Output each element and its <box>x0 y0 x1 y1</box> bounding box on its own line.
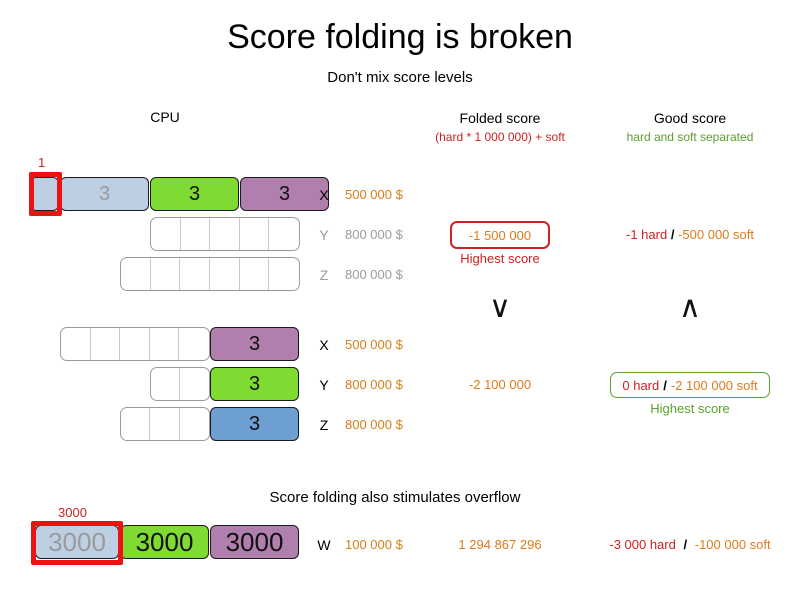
bar-cell[interactable] <box>240 218 270 250</box>
folded-score-group3: 1 294 867 296 <box>400 537 600 552</box>
good-score-soft-group3: -100 000 soft <box>695 537 771 552</box>
bar-segment-purple[interactable]: 3 <box>210 327 299 361</box>
good-score-hard-group3: -3 000 hard <box>609 537 676 552</box>
bar-cell[interactable] <box>151 258 181 290</box>
column-header-good-formula: hard and soft separated <box>595 130 785 144</box>
good-score-group1: -1 hard / -500 000 soft <box>585 227 795 242</box>
cpu-bar-group2-x-empty <box>60 327 210 361</box>
row-letter-group1-y: Y <box>315 227 333 243</box>
good-score-soft-group1: -500 000 soft <box>678 227 754 242</box>
bar-cell[interactable] <box>269 218 299 250</box>
bar-cell[interactable] <box>151 218 181 250</box>
folded-score-caption-group1: Highest score <box>400 251 600 266</box>
page-title: Score folding is broken <box>0 18 800 57</box>
chevron-up-icon: ∧ <box>660 293 720 323</box>
cpu-bar-group3-w: 3000 3000 3000 <box>35 525 300 559</box>
good-score-caption-group2: Highest score <box>585 401 795 416</box>
bar-segment-green[interactable]: 3 <box>150 177 239 211</box>
row-letter-group2-z: Z <box>315 417 333 433</box>
cpu-bar-group2-z-empty <box>120 407 210 441</box>
bar-segment-green[interactable]: 3 <box>210 367 299 401</box>
bar-cell[interactable] <box>269 258 299 290</box>
folded-score-box-group1[interactable]: -1 500 000 <box>450 221 550 249</box>
good-score-soft-group2: -2 100 000 soft <box>671 378 758 393</box>
bar-cell[interactable] <box>180 408 209 440</box>
good-score-slash-group3: / <box>679 537 691 552</box>
bar-cell[interactable] <box>150 408 179 440</box>
bar-cell[interactable] <box>210 258 240 290</box>
bar-cell[interactable] <box>180 368 209 400</box>
row-letter-group2-x: X <box>315 337 333 353</box>
row-letter-group1-x: X <box>315 187 333 203</box>
cpu-bar-group2-z: 3 <box>210 407 300 441</box>
row-money-group1-z: 800 000 $ <box>345 267 455 282</box>
section2-title: Score folding also stimulates overflow <box>160 489 630 506</box>
row-money-group2-z: 800 000 $ <box>345 417 455 432</box>
column-header-good-score: Good score <box>600 110 780 126</box>
bar-cell[interactable] <box>181 218 211 250</box>
bar-cell[interactable] <box>121 258 151 290</box>
bar-segment-blue[interactable]: 3 <box>210 407 299 441</box>
row-money-group1-y: 800 000 $ <box>345 227 455 242</box>
cpu-bar-group1-z <box>120 257 300 291</box>
bar-segment-lightblue[interactable]: 3 <box>60 177 149 211</box>
bar-cell[interactable] <box>179 328 209 360</box>
overflow-label-group3: 3000 <box>58 505 87 520</box>
column-header-folded-score: Folded score <box>410 110 590 126</box>
good-score-hard-group2: 0 hard <box>622 378 659 393</box>
bar-segment-purple[interactable]: 3000 <box>210 525 299 559</box>
chevron-down-icon: ∨ <box>470 293 530 323</box>
good-score-slash-group1: / <box>671 227 675 242</box>
bar-cell[interactable] <box>180 258 210 290</box>
bar-segment-green[interactable]: 3000 <box>120 525 209 559</box>
row-money-group1-x: 500 000 $ <box>345 187 455 202</box>
bar-cell[interactable] <box>120 328 150 360</box>
folded-score-group2: -2 100 000 <box>400 377 600 392</box>
cpu-bar-group2-y-empty <box>150 367 210 401</box>
column-header-folded-formula: (hard * 1 000 000) + soft <box>400 130 600 144</box>
bar-cell[interactable] <box>121 408 150 440</box>
cpu-bar-group1-x: 3 3 3 <box>30 177 330 211</box>
cpu-bar-group2-y: 3 <box>210 367 300 401</box>
good-score-box-group2[interactable]: 0 hard / -2 100 000 soft <box>610 372 770 398</box>
overflow-label-group1: 1 <box>38 155 45 170</box>
cpu-bar-group2-x: 3 <box>210 327 300 361</box>
bar-cell[interactable] <box>151 368 180 400</box>
cpu-bar-group1-y <box>150 217 300 251</box>
bar-segment-lightblue[interactable]: 3000 <box>35 525 119 559</box>
row-letter-group1-z: Z <box>315 267 333 283</box>
good-score-slash-group2: / <box>659 378 671 393</box>
row-letter-group3-w: W <box>315 537 333 553</box>
bar-cell[interactable] <box>91 328 121 360</box>
bar-cell[interactable] <box>210 218 240 250</box>
good-score-hard-group1: -1 hard <box>626 227 667 242</box>
page-subtitle: Don't mix score levels <box>0 69 800 86</box>
column-header-cpu: CPU <box>95 109 235 125</box>
bar-segment-lightblue-empty[interactable] <box>30 177 59 211</box>
row-letter-group2-y: Y <box>315 377 333 393</box>
row-money-group2-x: 500 000 $ <box>345 337 455 352</box>
bar-cell[interactable] <box>150 328 180 360</box>
good-score-group3: -3 000 hard / -100 000 soft <box>585 537 795 552</box>
bar-cell[interactable] <box>61 328 91 360</box>
bar-cell[interactable] <box>240 258 270 290</box>
